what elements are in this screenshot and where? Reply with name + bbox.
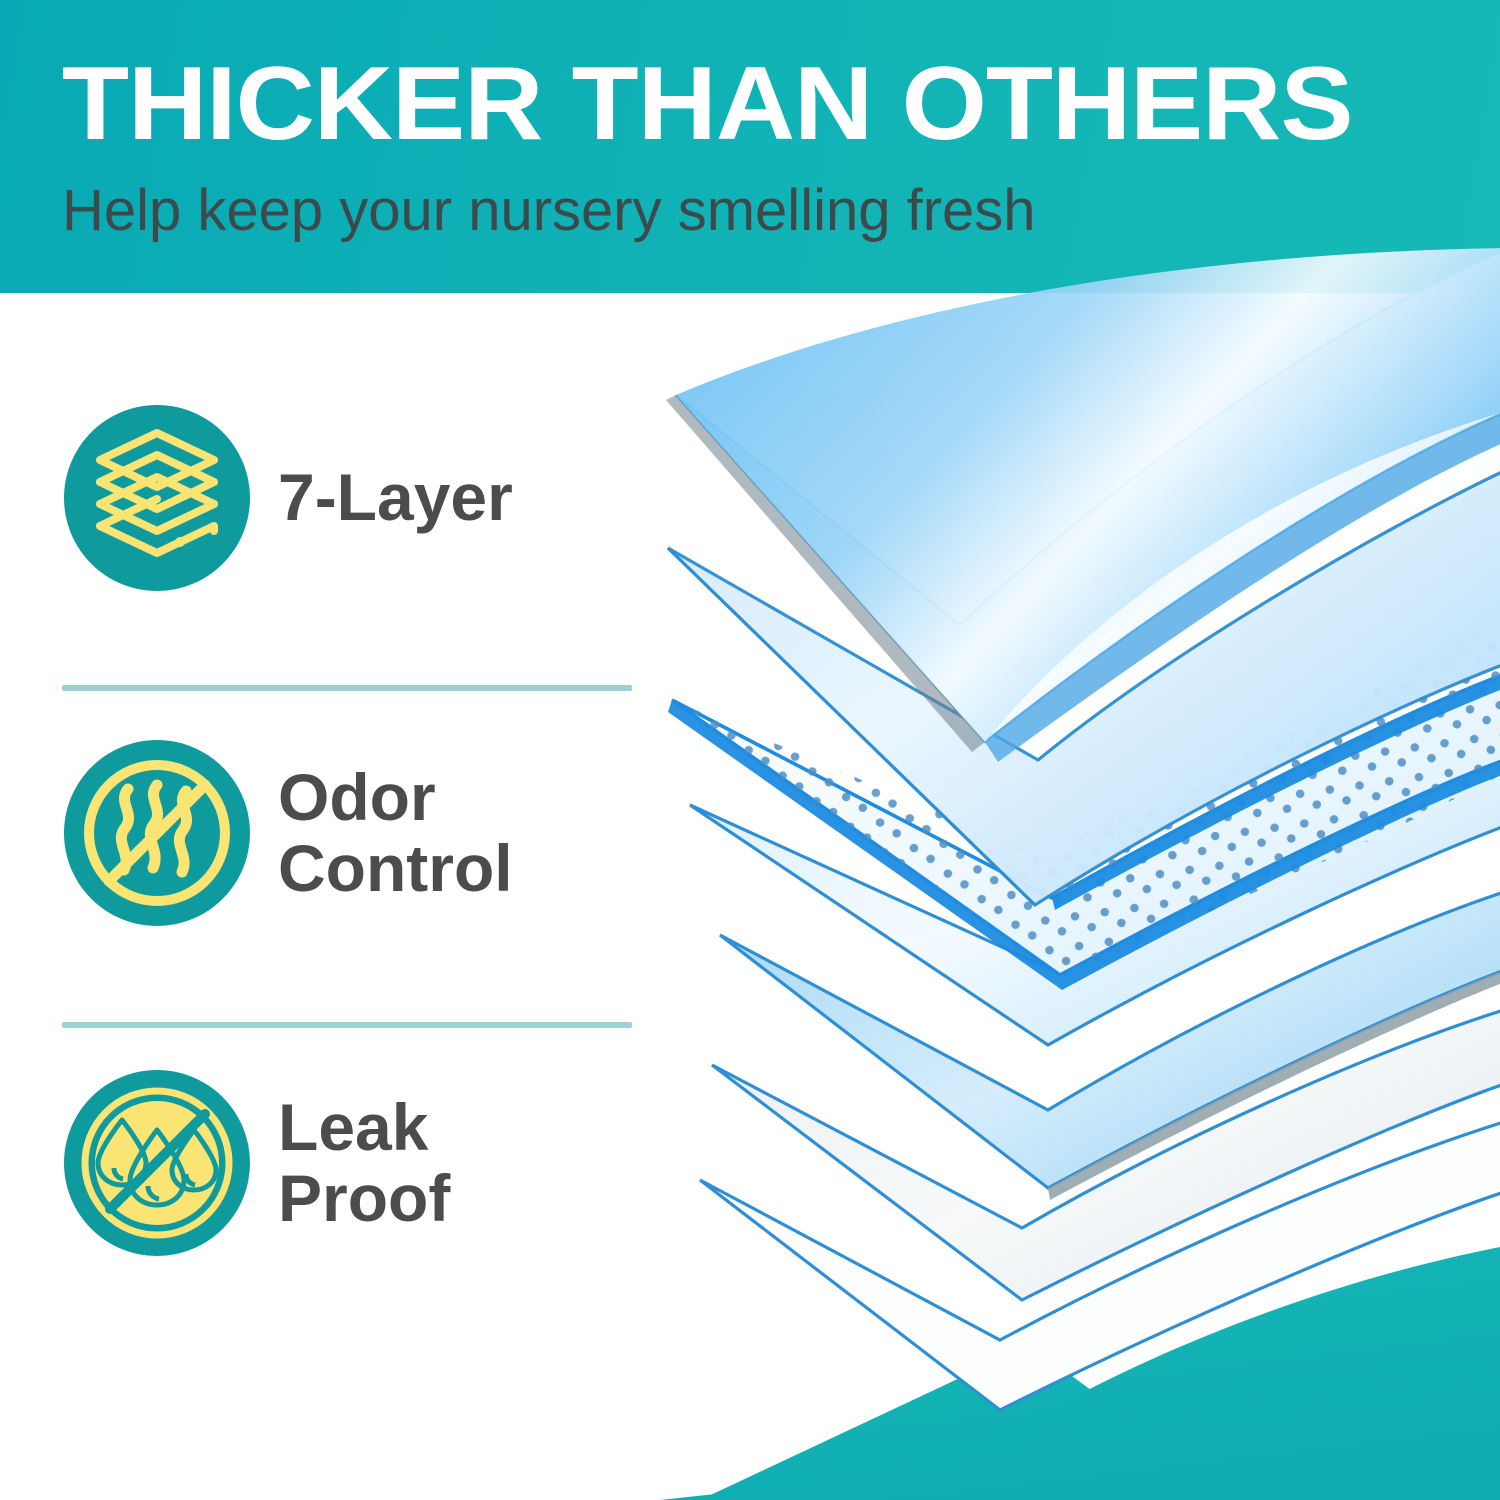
- page-subtitle: Help keep your nursery smelling fresh: [62, 182, 1036, 240]
- sheet-edge-highlight: [668, 548, 1035, 905]
- header-banner: THICKER THAN OTHERS Help keep your nurse…: [0, 0, 1500, 293]
- feature-row-odor-control[interactable]: Odor Control: [62, 738, 642, 928]
- perforation-dots: [650, 600, 1500, 1020]
- layer-6-grey-backing-sheet: [712, 1008, 1500, 1300]
- layer-1-top-surface-sheet: [666, 248, 1500, 762]
- feature-row-7-layer[interactable]: 7-Layer: [62, 403, 642, 593]
- layers-stack-icon: [62, 403, 252, 593]
- feature-divider-1: [62, 685, 632, 691]
- feature-divider-2: [62, 1022, 632, 1028]
- layer-7-bottom-white-sheet: [700, 1120, 1500, 1410]
- bottom-teal-shape: [660, 1245, 1500, 1500]
- feature-label-7-layer: 7-Layer: [278, 462, 513, 533]
- no-leak-droplets-icon: [62, 1068, 252, 1258]
- feature-row-leak-proof[interactable]: Leak Proof: [62, 1068, 642, 1258]
- layer-5-mid-blue-sheet: [720, 890, 1500, 1200]
- feature-list: 7-Layer Odor Control: [0, 293, 660, 1500]
- feature-label-odor-control: Odor Control: [278, 762, 513, 905]
- no-odor-icon: [62, 738, 252, 928]
- layer-3-perforated-dotted-sheet: [650, 600, 1500, 1020]
- layer-4-absorbent-core-sheet: [690, 742, 1500, 1045]
- feature-label-leak-proof: Leak Proof: [278, 1092, 450, 1235]
- layer-2-diffusion-sheet: [668, 468, 1500, 905]
- page-title: THICKER THAN OTHERS: [62, 52, 1352, 156]
- infographic-page: THICKER THAN OTHERS Help keep your nurse…: [0, 0, 1500, 1500]
- bottom-teal-wedge: [700, 1290, 1500, 1500]
